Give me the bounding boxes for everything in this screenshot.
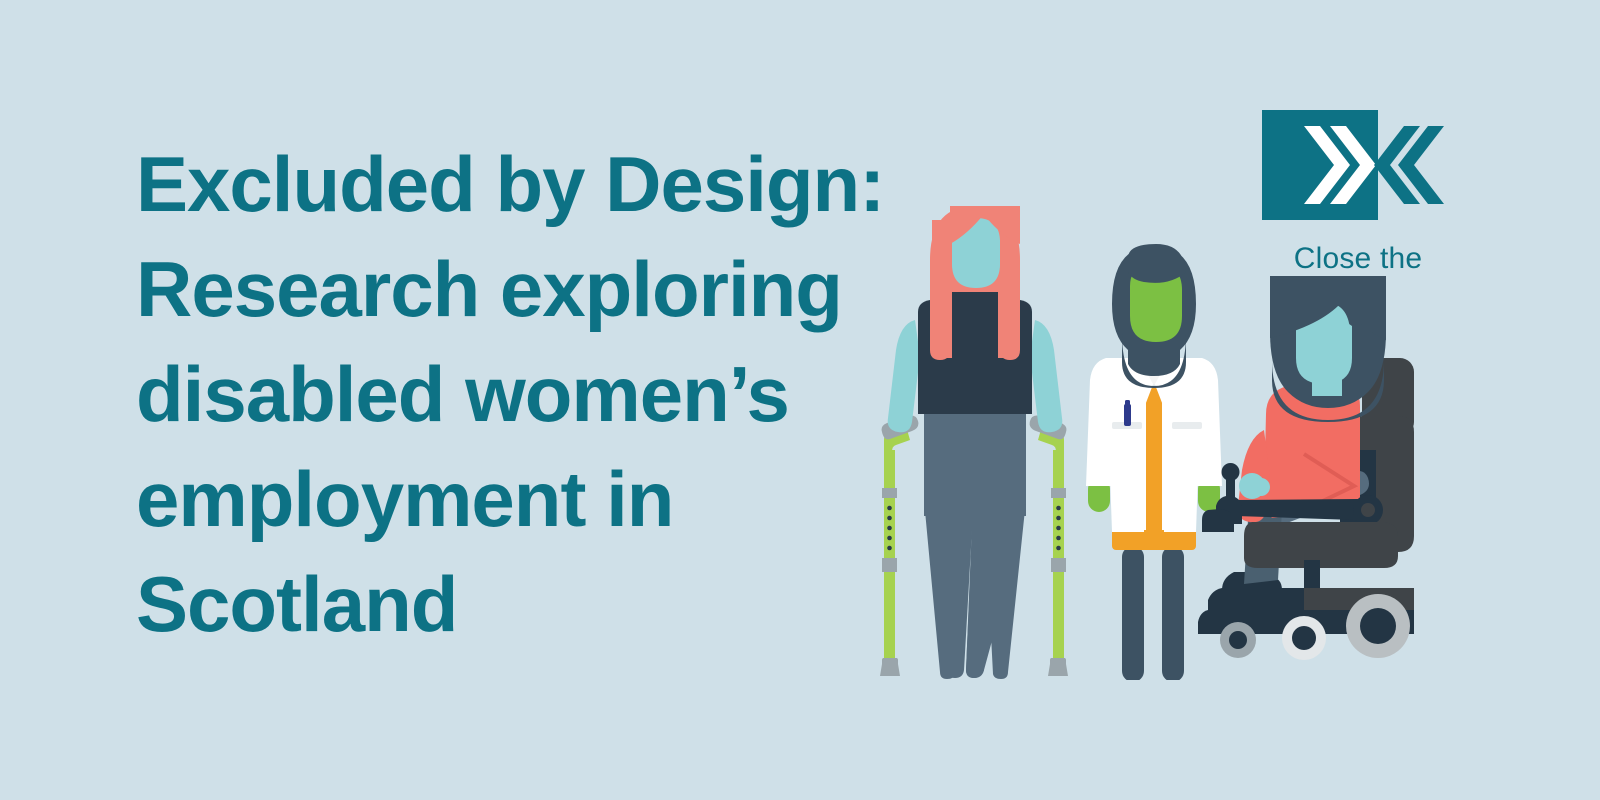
figure-woman-with-crutches bbox=[880, 206, 1068, 679]
crutch-left-icon bbox=[880, 416, 918, 676]
arm-left bbox=[888, 320, 920, 432]
title-line-4: employment in bbox=[136, 447, 936, 552]
title-line-3: disabled women’s bbox=[136, 342, 936, 447]
coat-pocket-right bbox=[1172, 422, 1202, 429]
pen-icon bbox=[1124, 400, 1131, 426]
page-title: Excluded by Design: Research exploring d… bbox=[136, 132, 936, 657]
illustration-three-disabled-women bbox=[860, 200, 1480, 680]
title-line-1: Excluded by Design: bbox=[136, 132, 936, 237]
title-line-5: Scotland bbox=[136, 552, 936, 657]
leg-left bbox=[1122, 546, 1144, 680]
wheel-mid bbox=[1282, 616, 1326, 660]
title-line-2: Research exploring bbox=[136, 237, 936, 342]
neck bbox=[1312, 372, 1342, 396]
crutch-right-icon bbox=[1030, 416, 1068, 676]
banner-root: Excluded by Design: Research exploring d… bbox=[0, 0, 1600, 800]
figure-woman-in-power-wheelchair bbox=[1198, 276, 1414, 660]
leg-right bbox=[1162, 546, 1184, 680]
wheel-front bbox=[1220, 622, 1256, 658]
wheel-rear bbox=[1346, 594, 1410, 658]
seat bbox=[1244, 522, 1398, 568]
arm-right bbox=[1030, 320, 1062, 432]
